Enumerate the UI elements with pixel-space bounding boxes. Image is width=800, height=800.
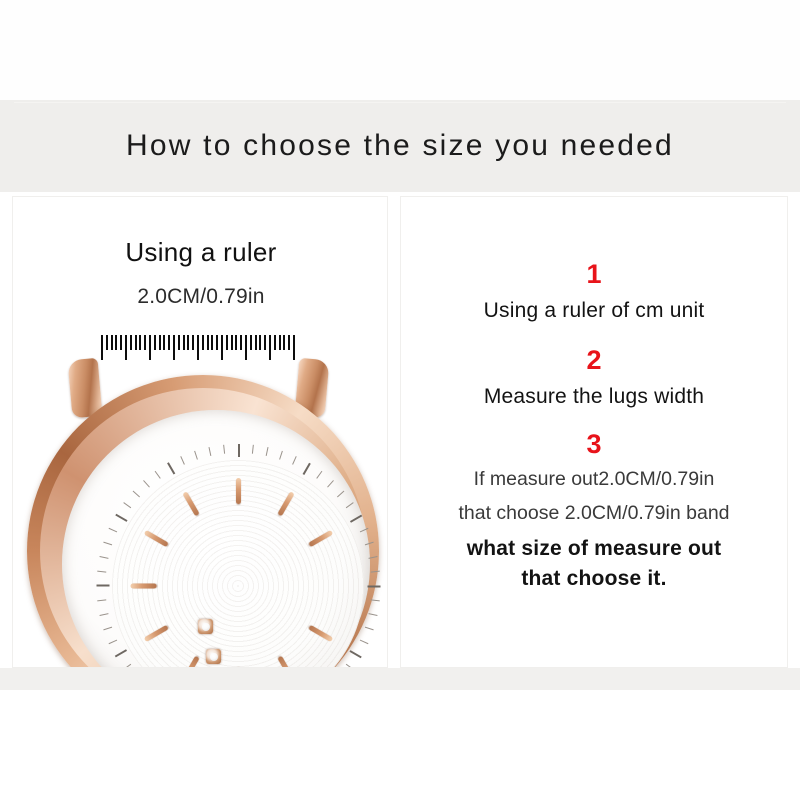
step-3-line-4: that choose it. [401,565,787,593]
minute-tick [155,471,161,479]
step-3-line-2: that choose 2.0CM/0.79in band [401,499,787,527]
hour-index [236,478,241,504]
minute-tick [109,528,118,533]
minute-tick [180,456,185,465]
minute-tick [252,445,254,454]
minute-tick [350,515,362,523]
minute-tick [303,463,311,475]
minute-tick [360,528,369,533]
dial-gem-marker-4 [206,649,221,664]
minute-tick [97,599,106,601]
minute-tick [99,556,108,559]
minute-tick [360,640,369,645]
minute-tick [115,514,127,522]
minute-tick [371,571,380,573]
step-2-number: 2 [401,345,787,375]
steps-list: 1 Using a ruler of cm unit 2 Measure the… [401,197,787,668]
left-panel-ruler-illustration: Using a ruler 2.0CM/0.79in [12,196,388,668]
minute-tick [279,451,283,460]
minute-tick [327,480,334,487]
minute-tick [123,502,131,508]
panels-row: Using a ruler 2.0CM/0.79in [0,196,800,670]
bottom-gray-band [0,668,800,690]
minute-tick [292,456,297,465]
minute-tick [133,491,140,498]
minute-tick [368,613,377,616]
minute-tick [337,491,344,498]
minute-tick [115,650,127,658]
watch-dial-base [62,410,370,668]
top-white-strip [0,0,800,100]
minute-tick [194,451,198,460]
right-panel-steps: 1 Using a ruler of cm unit 2 Measure the… [400,196,788,668]
hour-index [130,584,156,589]
minute-tick [371,599,380,601]
step-1-text: Using a ruler of cm unit [401,297,787,325]
minute-tick [266,447,269,456]
step-1-number: 1 [401,259,787,289]
minute-tick [97,571,106,573]
minute-tick [99,613,108,616]
minute-tick [368,556,377,559]
minute-tick [350,650,362,658]
dial-gem-marker-3 [198,619,213,634]
minute-tick [103,542,112,546]
minute-tick [368,586,381,588]
step-3-line-3: what size of measure out [401,535,787,563]
minute-tick [167,463,175,475]
minute-tick [346,502,354,508]
minute-tick [316,471,322,479]
watch-illustration: 26 AUTOMATIC WATER RESISTANT 50 METERS [13,197,388,668]
minute-tick [143,480,150,487]
bottom-white-strip [0,690,800,800]
minute-tick [97,585,110,587]
infographic-page: How to choose the size you needed Using … [0,0,800,800]
step-3-number: 3 [401,429,787,459]
minute-tick [208,447,211,456]
minute-tick [109,640,118,645]
minute-tick [365,542,374,546]
page-title: How to choose the size you needed [0,100,800,192]
step-2-text: Measure the lugs width [401,383,787,411]
minute-tick [103,627,112,631]
minute-tick [365,627,374,631]
minute-tick [238,444,240,457]
minute-tick [223,445,225,454]
step-3-line-1: If measure out2.0CM/0.79in [401,465,787,493]
